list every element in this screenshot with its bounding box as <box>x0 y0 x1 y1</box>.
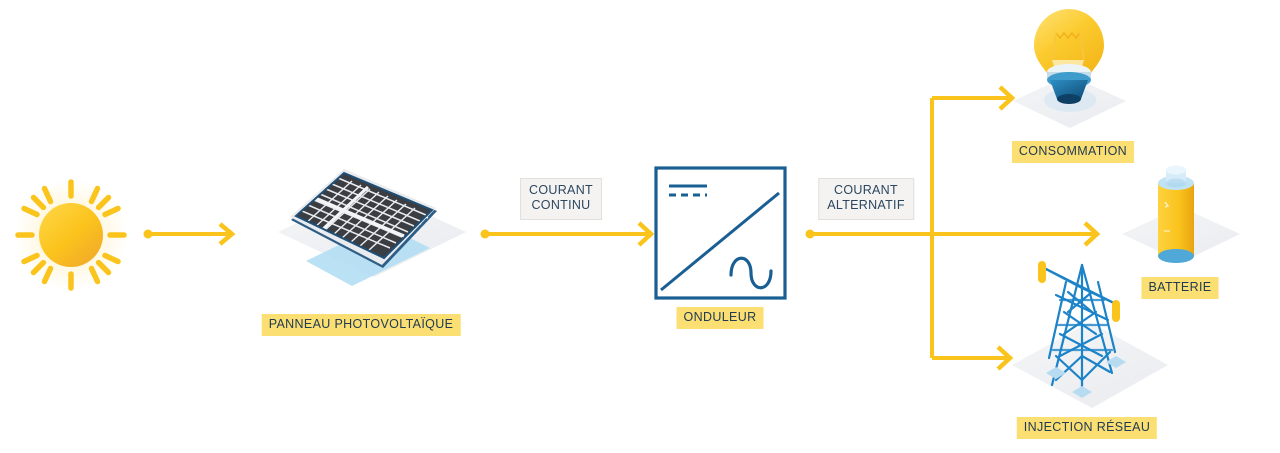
sun-icon <box>15 179 127 291</box>
consumption-label: CONSOMMATION <box>1012 141 1134 163</box>
arrow-panel-to-inverter <box>481 223 652 245</box>
lightbulb-icon <box>1013 9 1126 128</box>
inverter-label: ONDULEUR <box>677 307 764 329</box>
flow-arrows-layer <box>0 0 1280 453</box>
arrow-inverter-to-loads <box>806 223 1098 245</box>
ac-current-label: COURANT ALTERNATIF <box>818 178 914 220</box>
grid-label: INJECTION RÉSEAU <box>1017 417 1157 439</box>
energy-flow-diagram: COURANT CONTINU COURANT ALTERNATIF PANNE… <box>0 0 1280 453</box>
dc-current-label: COURANT CONTINU <box>520 178 602 220</box>
panel-label: PANNEAU PHOTOVOLTAÏQUE <box>262 314 461 336</box>
inverter-icon <box>656 168 785 298</box>
battery-label: BATTERIE <box>1142 277 1219 299</box>
battery-icon <box>1122 166 1240 264</box>
branch-to-grid <box>932 347 1010 369</box>
arrow-sun-to-panel <box>144 224 233 244</box>
branch-to-consumption <box>932 87 1012 109</box>
solar-panel-icon <box>278 169 466 286</box>
